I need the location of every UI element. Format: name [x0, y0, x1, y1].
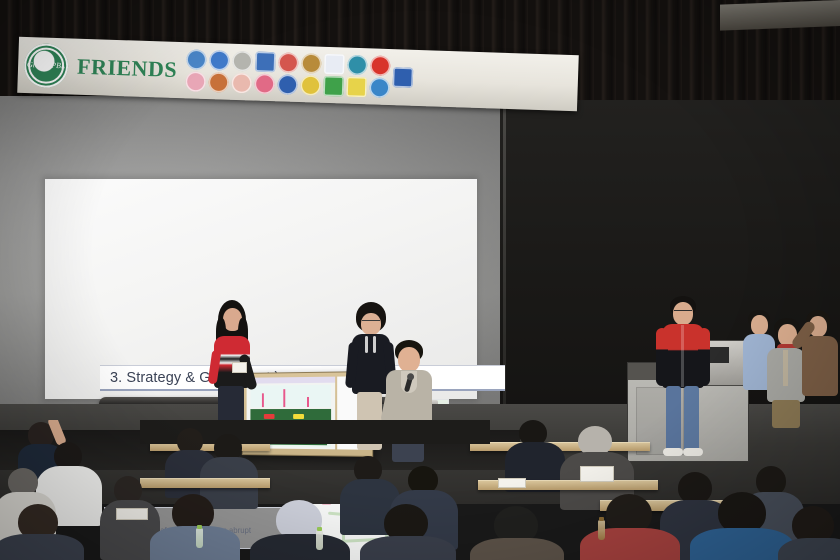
head — [398, 347, 420, 372]
board-bar — [283, 389, 285, 407]
logo-square-green-icon — [323, 76, 344, 97]
console-screen — [707, 347, 729, 363]
audience-member — [778, 506, 840, 560]
logo-column — [208, 50, 229, 93]
audience-member — [580, 494, 676, 560]
cardigan-opening — [783, 350, 788, 386]
logo-circle-gold-icon — [301, 53, 322, 74]
logo-circle-blue-dome-icon — [277, 74, 298, 95]
logo-circle-yellow-blue-icon — [300, 75, 321, 96]
glasses-icon — [674, 310, 692, 315]
logo-circle-pink-kmutt-icon — [254, 74, 275, 95]
logo-circle-pink-icon — [185, 71, 206, 92]
logo-circle-red-torch-icon — [278, 52, 299, 73]
audience-area — [0, 420, 840, 560]
audience-member — [690, 492, 790, 560]
papers — [116, 508, 148, 520]
logo-circle-blue-f-icon — [186, 49, 207, 70]
logo-square-white-blue-icon — [324, 54, 345, 75]
board-chart-row — [250, 385, 331, 407]
board-bar — [307, 397, 309, 407]
board-chip-red — [264, 414, 275, 419]
jacket-zipper — [681, 325, 684, 387]
shoulders — [0, 534, 84, 560]
shoulders — [360, 536, 456, 560]
logo-circle-red-c-icon — [370, 55, 391, 76]
bottle-cap — [197, 525, 202, 529]
global-pbl-logo: Global PBL — [23, 43, 68, 88]
board-header-strip — [247, 377, 336, 384]
bottle-cap — [317, 527, 322, 531]
shoulders — [778, 538, 840, 560]
shoulders — [470, 538, 564, 560]
logo-circle-grey-crest-icon — [232, 51, 253, 72]
glasses-icon — [362, 320, 380, 325]
name-card — [232, 362, 247, 373]
logo-column — [231, 51, 252, 94]
ceiling-strip — [720, 0, 840, 31]
logo-column — [254, 52, 275, 95]
logo-circle-teal-icon — [347, 55, 368, 76]
name-card — [580, 466, 614, 482]
presentation-photo-scene: Global PBL FRIENDS — [0, 0, 840, 560]
audience-member — [200, 434, 256, 500]
logo-text: Global PBL — [23, 43, 68, 88]
logo-column — [277, 52, 298, 95]
logo-column — [346, 55, 367, 98]
logo-circle-blue-flower-icon — [209, 50, 230, 71]
water-bottle — [316, 530, 323, 550]
logo-circle-salmon-icon — [231, 73, 252, 94]
university-logo-strip — [185, 45, 572, 108]
shoulders — [150, 526, 240, 560]
audience-member — [0, 504, 80, 560]
board-chip-yellow — [293, 414, 304, 419]
arm-left — [656, 328, 668, 386]
bottle-cap — [599, 517, 604, 521]
water-bottle — [196, 528, 203, 548]
logo-column — [369, 55, 390, 98]
tea-bottle — [598, 520, 605, 540]
logo-text-ihe-icon — [393, 67, 414, 88]
logo-circle-blue-un-icon — [369, 77, 390, 98]
shoulders-hoodie — [250, 534, 350, 560]
board-bar — [262, 393, 264, 407]
audience-member — [150, 494, 236, 560]
audience-desk — [140, 478, 270, 488]
hoodie-drawstring — [365, 336, 368, 353]
staff-brown-coat — [800, 310, 840, 410]
arm-right — [698, 328, 710, 386]
audience-member — [360, 504, 452, 560]
logo-square-yellow-icon — [346, 77, 367, 98]
logo-column — [185, 49, 206, 92]
papers — [498, 478, 526, 488]
audience-member — [250, 500, 346, 560]
logo-column — [393, 67, 414, 88]
logo-circle-gold-crest-icon — [208, 72, 229, 93]
audience-member — [470, 506, 560, 560]
hoodie-drawstring — [373, 336, 376, 353]
banner-headline: FRIENDS — [73, 54, 182, 84]
logo-column — [300, 53, 321, 96]
torso-coat — [802, 336, 838, 396]
shoulders-red — [580, 528, 680, 560]
audience-member — [505, 420, 563, 482]
logo-square-blue-icon — [255, 52, 276, 73]
logo-column — [323, 54, 344, 97]
audience-member — [560, 426, 632, 502]
